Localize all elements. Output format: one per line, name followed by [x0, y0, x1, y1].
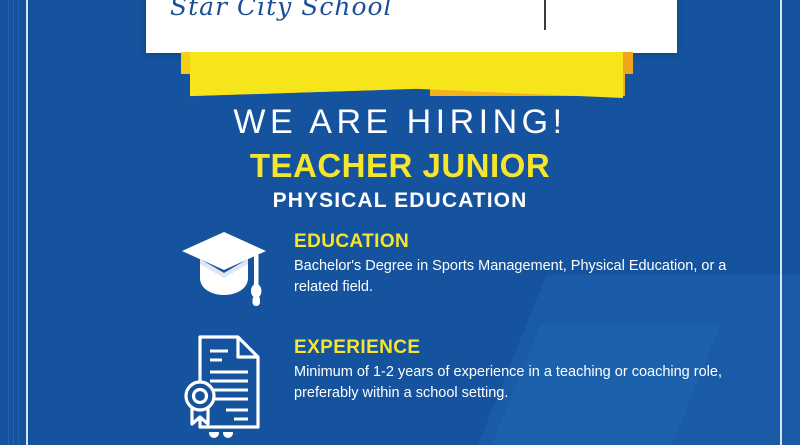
requirement-body-education: EDUCATION Bachelor's Degree in Sports Ma… [294, 228, 764, 298]
requirement-title-education: EDUCATION [294, 232, 764, 253]
logo-card: Star City School [146, 0, 677, 53]
requirement-text-education: Bachelor's Degree in Sports Management, … [294, 256, 764, 298]
yellow-ribbon [0, 50, 800, 110]
headline-subject: PHYSICAL EDUCATION [0, 189, 800, 212]
graduation-cap-icon [176, 228, 272, 308]
headline-eyebrow: WE ARE HIRING! [0, 104, 800, 141]
requirement-row-partial [176, 432, 272, 445]
requirement-row-education: EDUCATION Bachelor's Degree in Sports Ma… [176, 228, 764, 308]
school-logo-text: Star City School [170, 0, 393, 21]
requirement-title-experience: EXPERIENCE [294, 338, 764, 359]
partial-icon [176, 432, 272, 445]
logo-divider [544, 0, 546, 30]
hiring-poster: Star City School WE ARE HIRING! TEACHER … [0, 0, 800, 445]
requirement-text-experience: Minimum of 1-2 years of experience in a … [294, 362, 764, 404]
certificate-icon [176, 334, 272, 430]
headline-role: TEACHER JUNIOR [0, 148, 800, 185]
requirement-row-experience: EXPERIENCE Minimum of 1-2 years of exper… [176, 334, 764, 430]
ribbon-body [190, 52, 623, 98]
requirement-body-experience: EXPERIENCE Minimum of 1-2 years of exper… [294, 334, 764, 404]
headline-block: WE ARE HIRING! TEACHER JUNIOR PHYSICAL E… [0, 104, 800, 212]
